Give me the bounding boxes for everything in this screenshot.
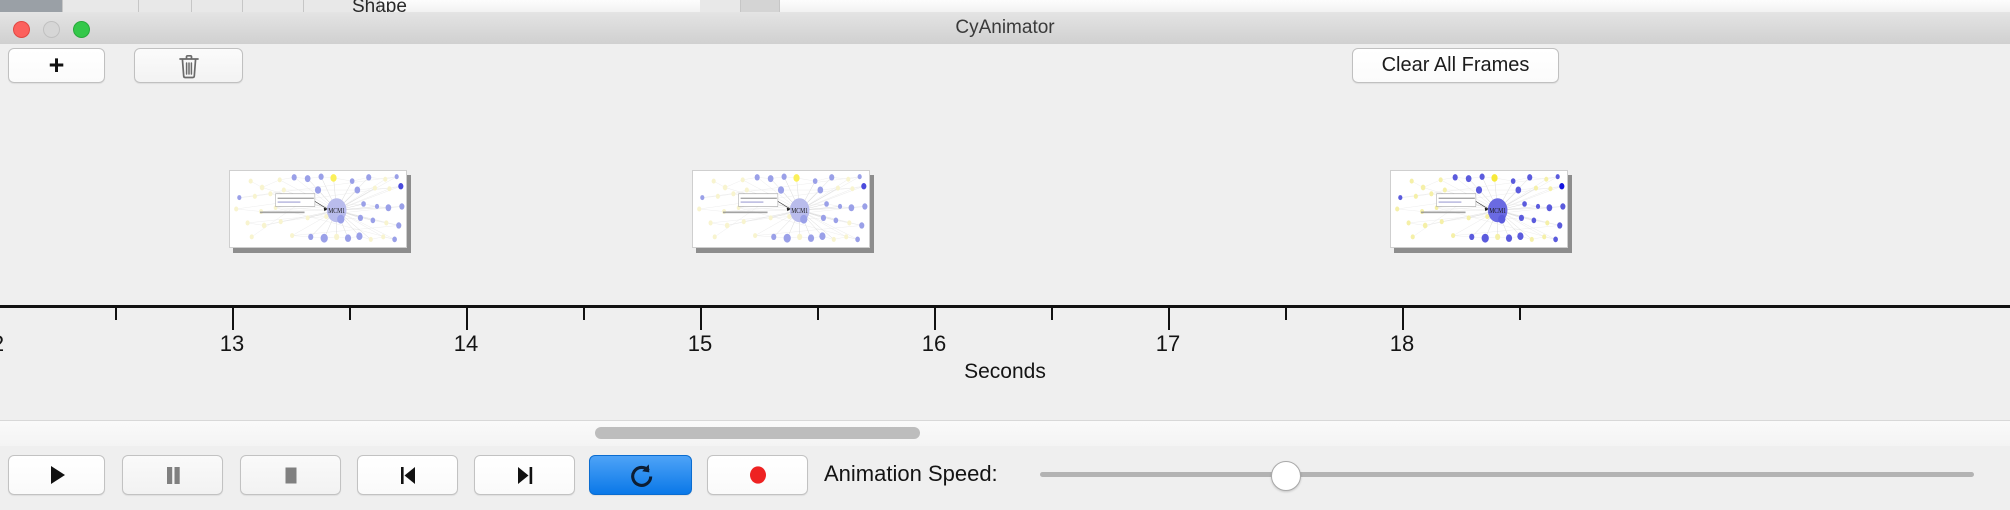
ruler-tick-minor [1285, 308, 1287, 320]
record-icon [745, 462, 771, 488]
ruler-tick-minor [583, 308, 585, 320]
ruler-tick-major [232, 308, 234, 330]
ruler-tick-minor [349, 308, 351, 320]
keyframe-image: MCM1 [692, 170, 870, 248]
svg-text:MCM1: MCM1 [1489, 207, 1506, 215]
play-icon [44, 462, 70, 488]
bg-chip [192, 0, 243, 12]
skip-next-icon [512, 462, 538, 488]
ruler-tick-minor [1051, 308, 1053, 320]
bg-chip [741, 0, 780, 12]
bg-chip [139, 0, 192, 12]
ruler-tick-label: 16 [922, 331, 946, 357]
timeline-panel[interactable]: MCM1MCM1MCM1 [0, 86, 2010, 326]
toolbar: + Clear All Frames [0, 44, 2010, 87]
stop-button[interactable] [240, 455, 341, 495]
window-title: CyAnimator [0, 12, 2010, 44]
ruler-tick-minor [1519, 308, 1521, 320]
keyframe-image: MCM1 [229, 170, 407, 248]
pause-icon [160, 462, 186, 488]
ruler-tick-label: 13 [220, 331, 244, 357]
horizontal-scrollbar-track[interactable] [0, 420, 2010, 447]
ruler-tick-label: 18 [1390, 331, 1414, 357]
ruler-tick-major [934, 308, 936, 330]
transport-bar: Animation Speed: [0, 446, 2010, 510]
ruler-tick-label: 17 [1156, 331, 1180, 357]
clear-all-frames-button[interactable]: Clear All Frames [1352, 48, 1559, 83]
ruler-tick-minor [115, 308, 117, 320]
bg-chip [243, 0, 304, 12]
bg-chip [0, 0, 63, 12]
keyframe-image: MCM1 [1390, 170, 1568, 248]
animation-speed-slider-thumb[interactable] [1271, 461, 1301, 491]
ruler-tick-label: 14 [454, 331, 478, 357]
skip-previous-icon [395, 462, 421, 488]
loop-icon [627, 461, 655, 489]
ruler-axis-line [0, 305, 2010, 308]
pause-button[interactable] [122, 455, 223, 495]
keyframe-thumbnail[interactable]: MCM1 [229, 170, 407, 248]
timeline-ruler: 2131415161718 [0, 305, 2010, 311]
next-frame-button[interactable] [474, 455, 575, 495]
plus-icon: + [49, 52, 65, 79]
play-button[interactable] [8, 455, 105, 495]
add-frame-button[interactable]: + [8, 48, 105, 83]
cyanimator-window: Shape CyAnimator + Clear All Frames MCM1… [0, 0, 2010, 510]
svg-text:MCM1: MCM1 [791, 207, 808, 215]
keyframe-thumbnail[interactable]: MCM1 [692, 170, 870, 248]
axis-title: Seconds [0, 360, 2010, 384]
horizontal-scrollbar-thumb[interactable] [595, 427, 920, 439]
bg-chip [700, 0, 741, 12]
ruler-tick-label: 15 [688, 331, 712, 357]
bg-chip [63, 0, 139, 12]
svg-text:MCM1: MCM1 [328, 207, 345, 215]
clear-all-frames-label: Clear All Frames [1382, 54, 1530, 77]
animation-speed-label: Animation Speed: [824, 455, 998, 493]
previous-frame-button[interactable] [357, 455, 458, 495]
ruler-tick-major [1402, 308, 1404, 330]
animation-speed-slider-track[interactable] [1040, 472, 1974, 477]
ruler-tick-major [1168, 308, 1170, 330]
loop-button[interactable] [589, 455, 692, 495]
title-bar: CyAnimator [0, 12, 2010, 45]
ruler-tick-major [700, 308, 702, 330]
record-button[interactable] [707, 455, 808, 495]
ruler-tick-label: 2 [0, 331, 4, 357]
trash-icon [177, 53, 201, 79]
ruler-tick-minor [817, 308, 819, 320]
delete-frame-button[interactable] [134, 48, 243, 83]
stop-icon [278, 462, 304, 488]
keyframe-thumbnail[interactable]: MCM1 [1390, 170, 1568, 248]
ruler-tick-major [466, 308, 468, 330]
